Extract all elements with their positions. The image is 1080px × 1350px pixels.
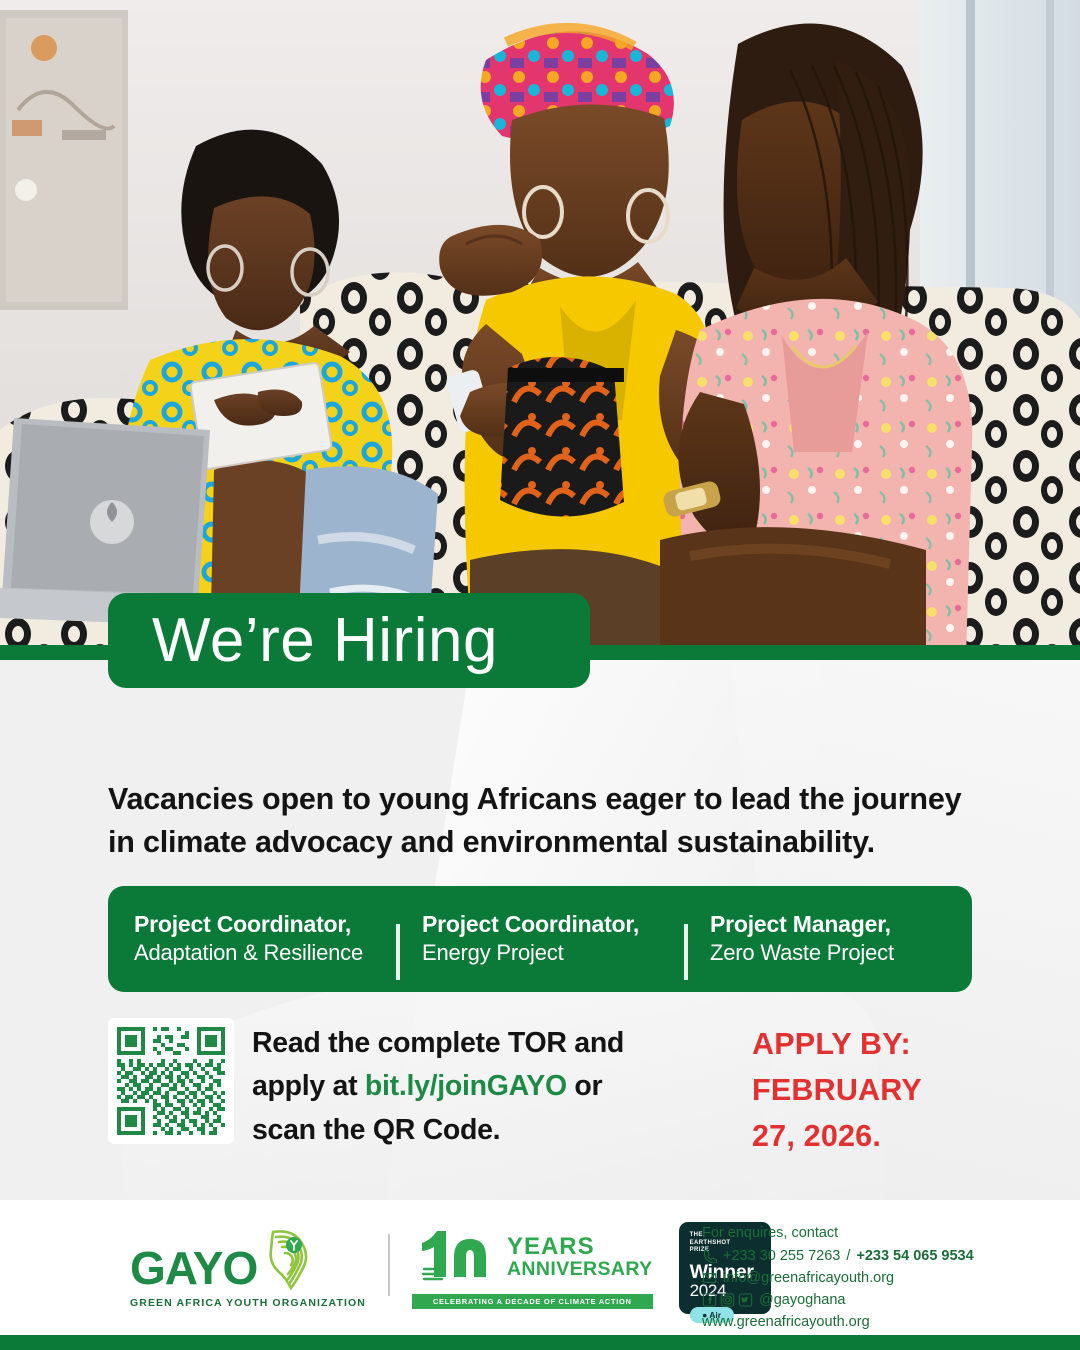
gayo-logo-top: GAYO [130,1228,315,1290]
contact-social-handle[interactable]: @gayoghana [759,1289,845,1311]
contact-email[interactable]: info@greenafricayouth.org [723,1267,894,1289]
twitter-icon[interactable] [738,1293,753,1307]
role-subtitle-3: Zero Waste Project [710,939,972,968]
contact-social-row: @gayoghana [702,1289,1032,1311]
tor-instructions: Read the complete TOR and apply at bit.l… [252,1022,672,1152]
role-title-2: Project Coordinator, [422,910,684,939]
qr-code-image [113,1023,229,1139]
hero-photo [0,0,1080,660]
contact-phone-1[interactable]: +233 30 255 7263 [723,1245,840,1267]
gayo-wordmark: GAYO [130,1247,257,1289]
role-subtitle-2: Energy Project [422,939,684,968]
lede-line-2: in climate advocacy and environmental su… [108,821,988,864]
envelope-icon [702,1271,717,1285]
roles-band: Project Coordinator, Adaptation & Resili… [108,886,972,992]
instagram-icon[interactable] [720,1293,735,1307]
apply-deadline-line-2: FEBRUARY [752,1068,1012,1114]
anniversary-word: ANNIVERSARY [507,1259,653,1279]
gayo-logo: GAYO GREEN AFRICA YOUTH ORGANIZATION [130,1228,366,1309]
apply-deadline: APPLY BY: FEBRUARY 27, 2026. [752,1022,1012,1159]
anniversary-logo: YEARS ANNIVERSARY CELEBRATING A DECADE O… [412,1227,653,1309]
phone-icon [702,1249,717,1263]
logo-divider [388,1234,390,1296]
tor-line-2-pre: apply at [252,1070,365,1102]
tor-line-1: Read the complete TOR and [252,1022,672,1065]
tor-line-2: apply at bit.ly/joinGAYO or [252,1065,672,1108]
lede-line-1: Vacancies open to young Africans eager t… [108,778,988,821]
anniversary-top: YEARS ANNIVERSARY [412,1227,653,1289]
social-icons [702,1293,753,1307]
apply-deadline-line-1: APPLY BY: [752,1022,1012,1068]
tor-line-3: scan the QR Code. [252,1109,672,1152]
role-title-1: Project Coordinator, [134,910,396,939]
apply-link[interactable]: bit.ly/joinGAYO [365,1070,567,1102]
footer-accent-bar [0,1335,1080,1350]
role-subtitle-1: Adaptation & Resilience [134,939,396,968]
hiring-badge-title: We’re Hiring [152,610,498,672]
lede-text: Vacancies open to young Africans eager t… [108,778,988,865]
ten-years-numeral-icon [412,1227,504,1289]
contact-phone-row: +233 30 255 7263 / +233 54 065 9534 [702,1245,1032,1267]
tor-line-2-post: or [567,1070,603,1102]
anniversary-tagline: CELEBRATING A DECADE OF CLIMATE ACTION [412,1294,653,1309]
role-title-3: Project Manager, [710,910,972,939]
qr-code[interactable] [108,1018,234,1144]
role-item-3[interactable]: Project Manager, Zero Waste Project [684,910,972,967]
hero-photo-illustration [0,0,1080,660]
facebook-icon[interactable] [702,1293,717,1307]
role-item-2[interactable]: Project Coordinator, Energy Project [396,910,684,967]
contact-phone-2[interactable]: +233 54 065 9534 [856,1245,973,1267]
contact-email-row: info@greenafricayouth.org [702,1267,1032,1289]
anniversary-years: YEARS [507,1236,653,1259]
role-item-1[interactable]: Project Coordinator, Adaptation & Resili… [108,910,396,967]
footer-logos: GAYO GREEN AFRICA YOUTH ORGANIZATION [130,1222,771,1314]
hiring-badge: We’re Hiring [108,593,590,688]
gayo-tagline: GREEN AFRICA YOUTH ORGANIZATION [130,1297,366,1309]
anniversary-text: YEARS ANNIVERSARY [507,1236,653,1279]
footer-contact: For enquires, contact +233 30 255 7263 /… [702,1222,1032,1333]
apply-deadline-line-3: 27, 2026. [752,1114,1012,1160]
africa-fingerprint-icon [257,1228,315,1290]
contact-website[interactable]: www.greenafricayouth.org [702,1311,1032,1333]
contact-heading: For enquires, contact [702,1222,1032,1244]
contact-phone-separator: / [846,1245,850,1267]
